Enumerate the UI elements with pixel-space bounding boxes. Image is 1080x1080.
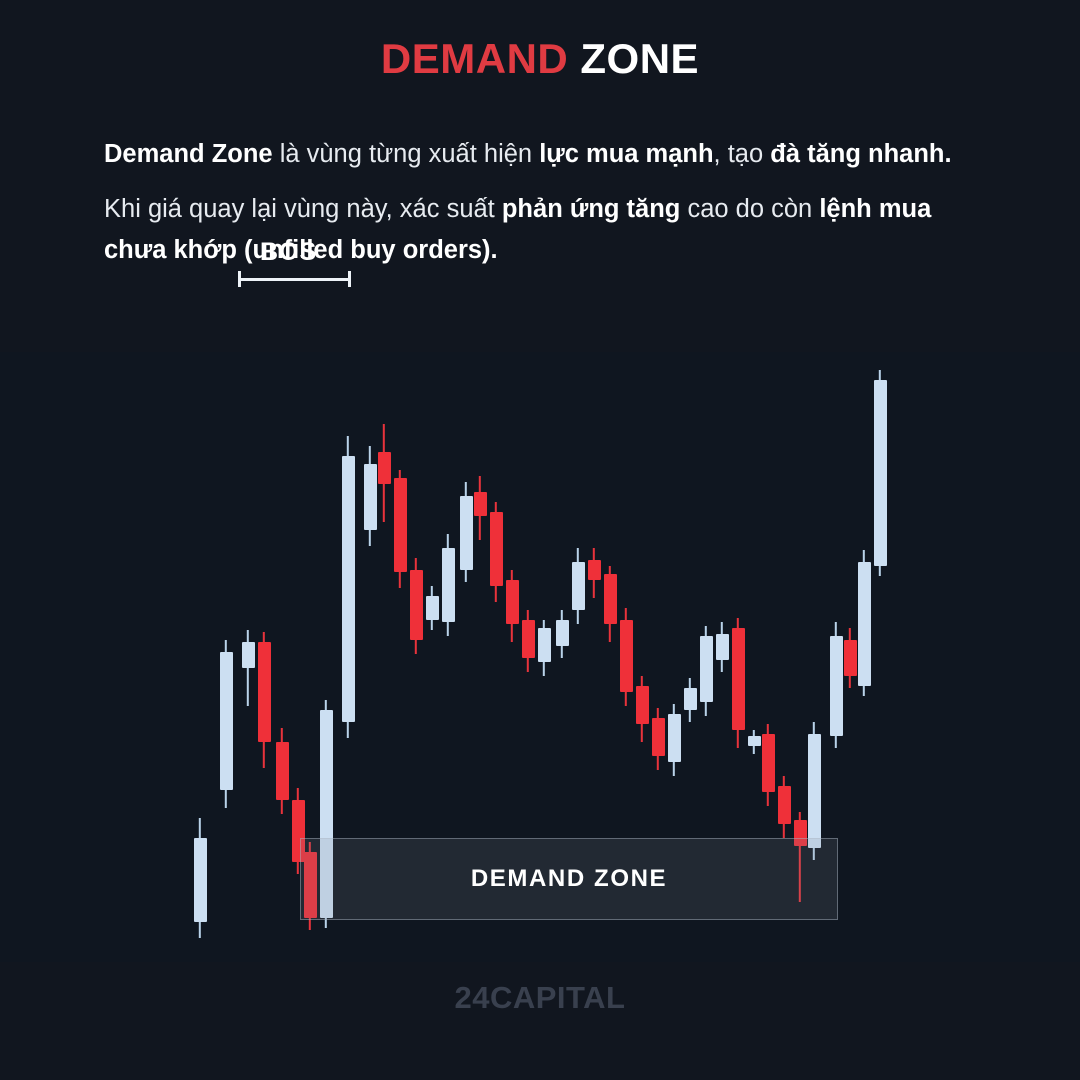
candle (572, 548, 585, 624)
candlestick-chart: BOS DEMAND ZONE (0, 352, 1080, 962)
candle-body (538, 628, 551, 662)
candle (394, 470, 407, 588)
candle (858, 550, 871, 696)
candle-body (220, 652, 233, 790)
candle-body (808, 734, 821, 848)
candle (506, 570, 519, 642)
candle (874, 370, 887, 576)
text-run-bold: phản ứng tăng (502, 195, 681, 223)
candle-body (342, 456, 355, 722)
candle (762, 724, 775, 806)
candle-body (732, 628, 745, 730)
text-run-bold: lực mua mạnh (539, 140, 713, 168)
candle-body (684, 688, 697, 710)
candle-body (700, 636, 713, 702)
bos-line (238, 278, 348, 281)
candle (588, 548, 601, 598)
title-word-zone: ZONE (580, 35, 699, 82)
title-space (568, 35, 580, 82)
title-text: DEMAND ZONE (0, 38, 1080, 80)
candle (556, 610, 569, 658)
candle-body (572, 562, 585, 610)
candle-body (830, 636, 843, 736)
candle (442, 534, 455, 636)
candle (276, 728, 289, 814)
candle-body (460, 496, 473, 570)
body-copy: Demand Zone là vùng từng xuất hiện lực m… (104, 134, 994, 271)
candle-body (762, 734, 775, 792)
bos-label: BOS (260, 238, 317, 267)
candle (620, 608, 633, 706)
text-run: Khi giá quay lại vùng này, xác suất (104, 195, 502, 223)
candle-body (716, 634, 729, 660)
text-run: , tạo (714, 140, 771, 168)
candle (844, 628, 857, 688)
candle-body (588, 560, 601, 580)
candle-body (194, 838, 207, 922)
candle (652, 708, 665, 770)
candle (194, 818, 207, 938)
candle (604, 566, 617, 642)
candle-body (378, 452, 391, 484)
candle-body (242, 642, 255, 668)
candle (778, 776, 791, 838)
candle-body (604, 574, 617, 624)
candle-body (748, 736, 761, 746)
candle (684, 678, 697, 722)
candle-body (426, 596, 439, 620)
watermark: 24CAPITAL (0, 980, 1080, 1016)
candle (716, 622, 729, 672)
candle-body (506, 580, 519, 624)
candle (538, 620, 551, 676)
candle-body (490, 512, 503, 586)
candle-body (556, 620, 569, 646)
candle-body (858, 562, 871, 686)
text-run: cao do còn (680, 195, 819, 223)
candle-body (442, 548, 455, 622)
candle-body (636, 686, 649, 724)
candle-body (410, 570, 423, 640)
candle (342, 436, 355, 738)
candle (668, 704, 681, 776)
candle (700, 626, 713, 716)
title-word-demand: DEMAND (381, 35, 568, 82)
candle-body (364, 464, 377, 530)
page-title: DEMAND ZONE (0, 38, 1080, 80)
candle-body (394, 478, 407, 572)
candle-body (258, 642, 271, 742)
candle (522, 610, 535, 672)
paragraph-2: Khi giá quay lại vùng này, xác suất phản… (104, 189, 994, 271)
candle (748, 730, 761, 754)
candle-body (844, 640, 857, 676)
candle (410, 558, 423, 654)
candle (460, 482, 473, 582)
candle (258, 632, 271, 768)
text-run: là vùng từng xuất hiện (273, 140, 540, 168)
candle (636, 676, 649, 742)
candle (490, 502, 503, 602)
candle-body (652, 718, 665, 756)
candle (242, 630, 255, 706)
text-run-bold: đà tăng nhanh. (770, 140, 951, 168)
candle (426, 586, 439, 630)
candle (830, 622, 843, 748)
candle-body (620, 620, 633, 692)
candle (732, 618, 745, 748)
demand-zone-label: DEMAND ZONE (471, 865, 667, 893)
poster-root: DEMAND ZONE Demand Zone là vùng từng xuấ… (0, 0, 1080, 1080)
candle-body (778, 786, 791, 824)
candle-body (668, 714, 681, 762)
candle-body (522, 620, 535, 658)
candle-body (874, 380, 887, 566)
text-run-bold: Demand Zone (104, 140, 273, 168)
bos-tick-right (348, 271, 351, 287)
demand-zone-box: DEMAND ZONE (300, 838, 838, 920)
candle (474, 476, 487, 540)
candle-body (474, 492, 487, 516)
paragraph-1: Demand Zone là vùng từng xuất hiện lực m… (104, 134, 994, 175)
candle-body (276, 742, 289, 800)
candle (378, 424, 391, 522)
candle (220, 640, 233, 808)
candle (364, 446, 377, 546)
